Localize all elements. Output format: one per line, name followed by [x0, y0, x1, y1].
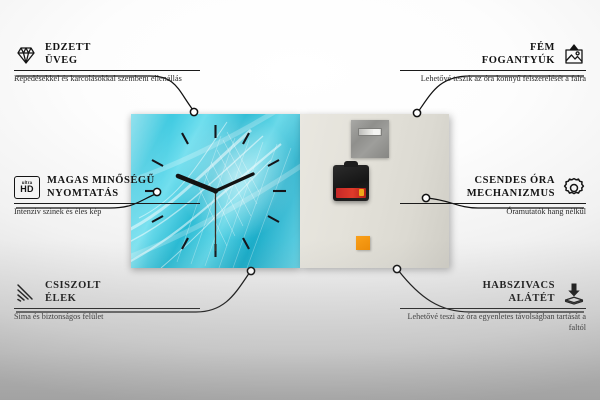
callout-silent-mechanism[interactable]: CSENDES ÓRA MECHANIZMUS Óramutatók hang … — [400, 175, 586, 218]
callout-subtitle: Repedésekkel és karcolásokkal szembeni e… — [14, 74, 200, 85]
callout-tempered-glass[interactable]: EDZETT ÜVEG Repedésekkel és karcolásokka… — [14, 42, 200, 85]
callout-title-line-1: EDZETT — [45, 42, 91, 55]
quartz-clock-mechanism — [333, 165, 369, 201]
callout-title-line-1: CSENDES ÓRA — [467, 175, 555, 188]
callout-header: CSISZOLT ÉLEK — [14, 280, 200, 305]
foam-spacer-pad — [356, 236, 370, 250]
gear-icon — [562, 176, 586, 200]
callout-title-line-2: FOGANTYÚK — [482, 55, 555, 68]
callout-subtitle: Lehetővé teszik az óra könnyű felszerelé… — [400, 74, 586, 85]
callout-header: FÉM FOGANTYÚK — [400, 42, 586, 67]
callout-title-line-1: MAGAS MINŐSÉGŰ — [47, 175, 155, 188]
callout-subtitle: Sima és biztonságos felület — [14, 312, 200, 323]
metal-hanger-bracket — [351, 120, 389, 158]
callout-divider — [14, 308, 200, 309]
callout-header: CSENDES ÓRA MECHANIZMUS — [400, 175, 586, 200]
callout-title-line-2: MECHANIZMUS — [467, 188, 555, 201]
hanger-slot — [358, 128, 382, 136]
callout-title-line-1: FÉM — [482, 42, 555, 55]
callout-title-line-2: NYOMTATÁS — [47, 188, 155, 201]
callout-title-line-1: HABSZIVACS — [483, 280, 555, 293]
callout-divider — [14, 70, 200, 71]
callout-title-line-2: ALÁTÉT — [483, 293, 555, 306]
leader-dot-edge — [247, 267, 254, 274]
callout-divider — [400, 70, 586, 71]
callout-header: ultra HD MAGAS MINŐSÉGŰ NYOMTATÁS — [14, 175, 200, 200]
callout-polished-edges[interactable]: CSISZOLT ÉLEK Sima és biztonságos felüle… — [14, 280, 200, 323]
callout-subtitle: Óramutatók hang nélkül — [400, 207, 586, 218]
callout-title-line-2: ÉLEK — [45, 293, 101, 306]
callout-subtitle: Intenzív színek és éles kép — [14, 207, 200, 218]
ultra-hd-bottom: HD — [20, 185, 33, 194]
callout-title-line-2: ÜVEG — [45, 55, 91, 68]
battery — [336, 188, 366, 198]
infographic-canvas: EDZETT ÜVEG Repedésekkel és karcolásokka… — [0, 0, 600, 400]
callout-metal-hooks[interactable]: FÉM FOGANTYÚK Lehetővé teszik az óra kön… — [400, 42, 586, 85]
callout-foam-pad[interactable]: HABSZIVACS ALÁTÉT Lehetővé teszi az óra … — [400, 280, 586, 333]
diamond-icon — [14, 43, 38, 67]
foam-pad-icon — [562, 281, 586, 305]
ultra-hd-icon: ultra HD — [14, 176, 40, 199]
mechanism-hook — [344, 161, 358, 167]
callout-title-line-1: CSISZOLT — [45, 280, 101, 293]
hanger-hole — [373, 129, 380, 135]
callout-subtitle: Lehetővé teszi az óra egyenletes távolsá… — [400, 312, 586, 333]
callout-divider — [14, 203, 200, 204]
callout-header: EDZETT ÜVEG — [14, 42, 200, 67]
callout-divider — [400, 203, 586, 204]
callout-hd-print[interactable]: ultra HD MAGAS MINŐSÉGŰ NYOMTATÁS Intenz… — [14, 175, 200, 218]
callout-divider — [400, 308, 586, 309]
picture-hanger-icon — [562, 43, 586, 67]
callout-header: HABSZIVACS ALÁTÉT — [400, 280, 586, 305]
polished-edge-icon — [14, 281, 38, 305]
